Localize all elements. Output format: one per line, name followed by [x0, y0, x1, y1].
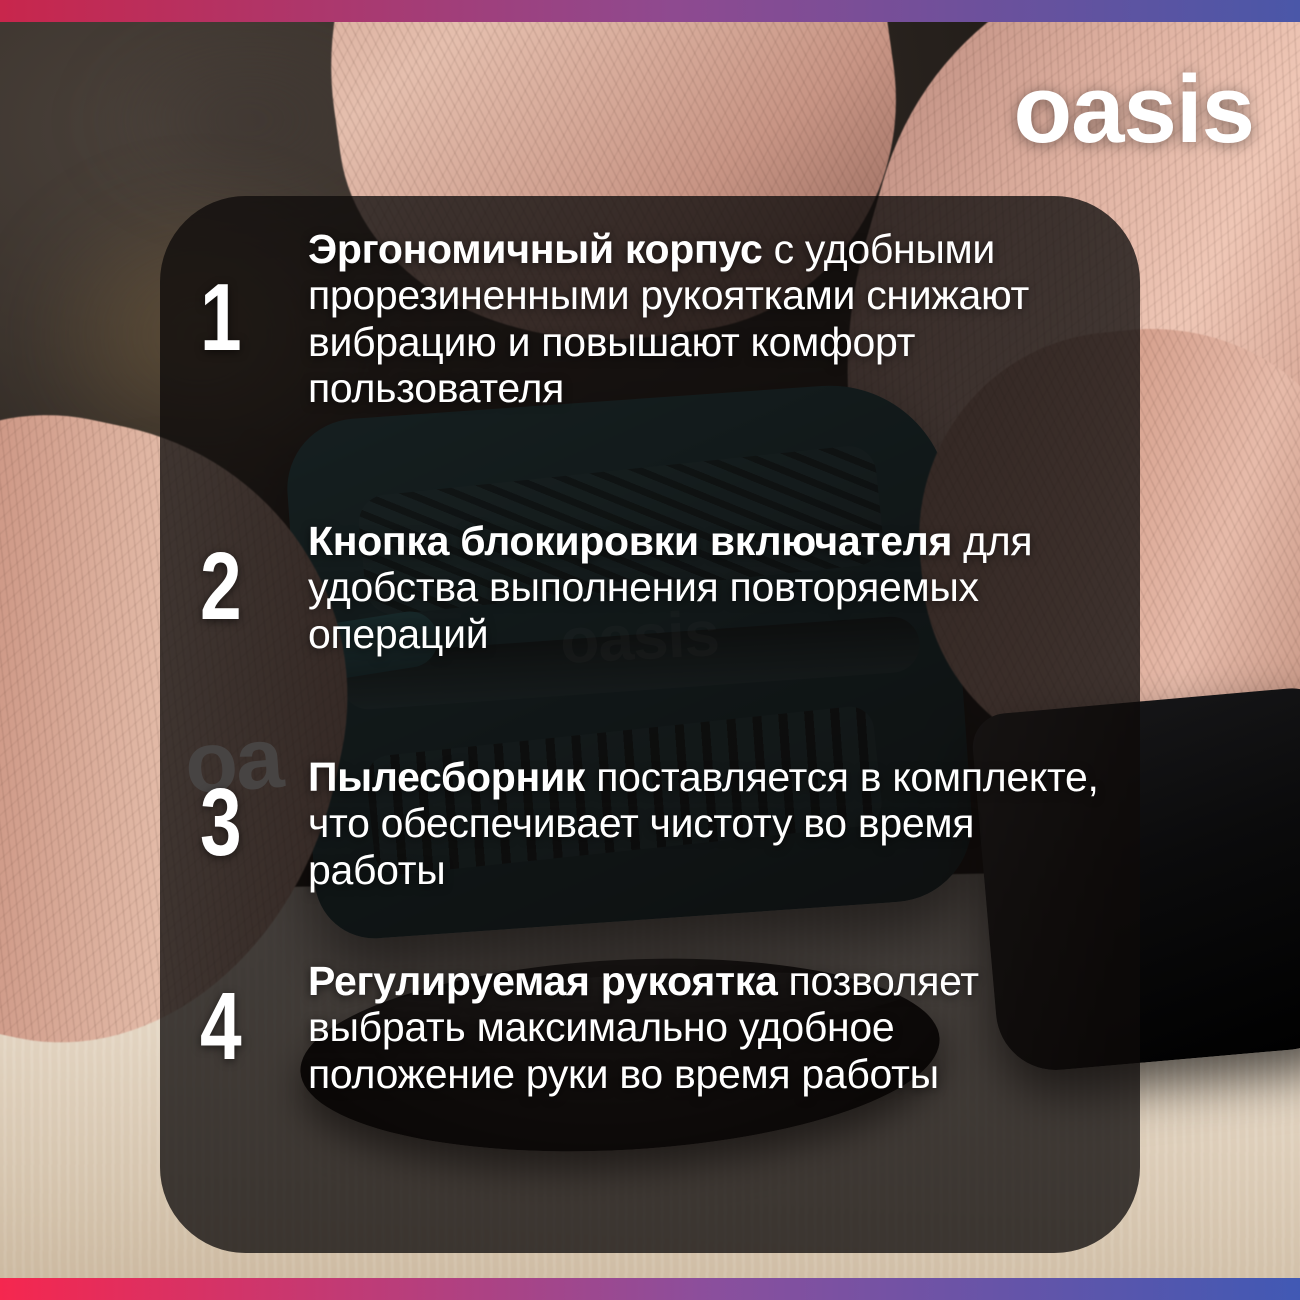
feature-text: Кнопка блокировки включателя для удобств… — [308, 518, 1100, 657]
feature-title: Кнопка блокировки включателя — [308, 518, 952, 564]
feature-text: Эргономичный корпус с удобными прорезине… — [308, 226, 1100, 411]
feature-title: Пылесборник — [308, 754, 585, 800]
feature-number: 2 — [200, 544, 284, 630]
bottom-gradient-bar — [0, 1278, 1300, 1300]
feature-list: 1 Эргономичный корпус с удобными прорези… — [160, 196, 1140, 1253]
feature-number: 3 — [200, 780, 284, 866]
feature-text: Регулируемая рукоятка позволяет выбрать … — [308, 958, 1100, 1097]
feature-item-4: 4 Регулируемая рукоятка позволяет выбрат… — [200, 958, 1100, 1097]
feature-title: Регулируемая рукоятка — [308, 958, 777, 1004]
infographic-canvas: oasis oa oasis 1 Эргономичный корпус с у… — [0, 0, 1300, 1300]
brand-logo: oasis — [1014, 62, 1254, 158]
feature-title: Эргономичный корпус — [308, 226, 763, 272]
feature-item-3: 3 Пылесборник поставляется в комплекте, … — [200, 754, 1100, 893]
feature-item-2: 2 Кнопка блокировки включателя для удобс… — [200, 518, 1100, 657]
top-gradient-bar — [0, 0, 1300, 22]
feature-number: 1 — [200, 275, 284, 361]
feature-text: Пылесборник поставляется в комплекте, чт… — [308, 754, 1100, 893]
feature-item-1: 1 Эргономичный корпус с удобными прорези… — [200, 226, 1100, 411]
feature-number: 4 — [200, 984, 284, 1070]
